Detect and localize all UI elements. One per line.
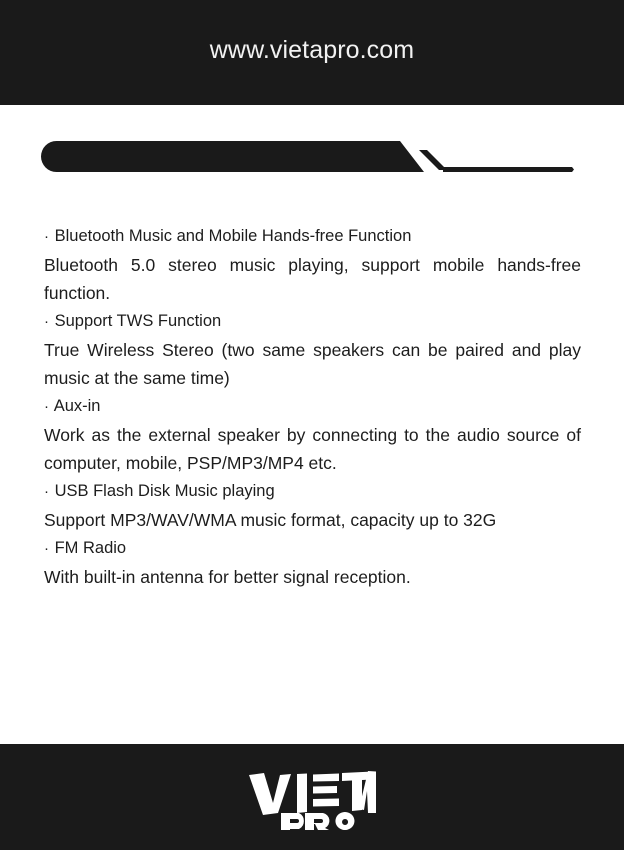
page-footer xyxy=(0,744,624,850)
header-website-url: www.vietapro.com xyxy=(210,38,414,67)
feature-item: · Support TWS Function True Wireless Ste… xyxy=(44,307,581,392)
feature-description: True Wireless Stereo (two same speakers … xyxy=(44,336,581,392)
feature-item: · FM Radio With built-in antenna for bet… xyxy=(44,534,581,591)
feature-heading: · Aux-in xyxy=(44,392,581,421)
feature-heading-text: Support TWS Function xyxy=(55,312,222,330)
banner-rule xyxy=(443,167,574,172)
feature-item: · Aux-in Work as the external speaker by… xyxy=(44,392,581,477)
bullet-dot: · xyxy=(44,228,50,245)
feature-heading-text: Bluetooth Music and Mobile Hands-free Fu… xyxy=(55,227,412,245)
feature-description: Bluetooth 5.0 stereo music playing, supp… xyxy=(44,251,581,307)
feature-item: · USB Flash Disk Music playing Support M… xyxy=(44,477,581,534)
feature-description: Support MP3/WAV/WMA music format, capaci… xyxy=(44,506,581,534)
feature-heading-text: FM Radio xyxy=(55,539,127,557)
feature-heading-text: Aux-in xyxy=(54,397,101,415)
bullet-dot: · xyxy=(44,398,50,415)
vieta-pro-logo xyxy=(247,769,377,831)
banner-blade xyxy=(41,141,424,172)
bullet-dot: · xyxy=(44,540,50,557)
features-banner: Features xyxy=(0,138,624,178)
feature-heading: · USB Flash Disk Music playing xyxy=(44,477,581,506)
feature-description: Work as the external speaker by connecti… xyxy=(44,421,581,477)
banner-diagonal-stroke xyxy=(419,150,447,170)
brand-logo-icon xyxy=(247,769,377,831)
feature-heading: · FM Radio xyxy=(44,534,581,563)
feature-item: · Bluetooth Music and Mobile Hands-free … xyxy=(44,222,581,307)
feature-heading: · Support TWS Function xyxy=(44,307,581,336)
page-header: www.vietapro.com xyxy=(0,0,624,105)
feature-heading: · Bluetooth Music and Mobile Hands-free … xyxy=(44,222,581,251)
features-banner-shape xyxy=(0,138,624,178)
features-list: · Bluetooth Music and Mobile Hands-free … xyxy=(44,222,581,591)
feature-description: With built-in antenna for better signal … xyxy=(44,563,581,591)
feature-heading-text: USB Flash Disk Music playing xyxy=(55,482,275,500)
bullet-dot: · xyxy=(44,313,50,330)
bullet-dot: · xyxy=(44,483,50,500)
